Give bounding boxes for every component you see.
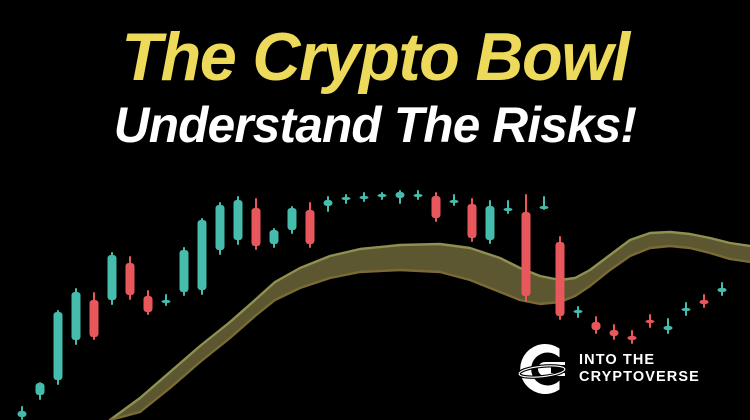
candle: [198, 218, 207, 295]
candle: [522, 194, 531, 302]
candle-body: [718, 288, 727, 292]
candle: [288, 206, 297, 234]
candle-body: [180, 250, 189, 292]
candle: [324, 196, 333, 212]
brand-logo-text: INTO THE CRYPTOVERSE: [579, 352, 700, 386]
brand-logo-line2: CRYPTOVERSE: [579, 369, 700, 386]
candle: [574, 306, 583, 318]
candle-body: [610, 330, 619, 336]
candle: [306, 202, 315, 248]
candle-body: [592, 322, 601, 330]
candle-body: [108, 255, 117, 300]
candle-body: [198, 220, 207, 290]
candle: [718, 282, 727, 296]
candle: [252, 198, 261, 250]
candle: [36, 382, 45, 400]
candle-body: [664, 326, 673, 330]
candle: [18, 406, 27, 420]
candle-body: [378, 194, 387, 197]
candle-body: [144, 296, 153, 312]
candle: [610, 324, 619, 340]
candle-body: [270, 230, 279, 244]
candle: [342, 194, 351, 204]
cryptoverse-planet-icon: [515, 342, 569, 396]
candle: [664, 318, 673, 334]
candle-body: [288, 208, 297, 230]
candle-body: [682, 308, 691, 311]
candle-body: [72, 292, 81, 340]
candle-body: [54, 312, 63, 380]
planet-ring-icon: [515, 342, 569, 396]
candle: [90, 292, 99, 340]
candle: [556, 236, 565, 320]
candle-body: [126, 263, 135, 295]
candle: [682, 302, 691, 316]
candle-body: [628, 336, 637, 340]
candle-body: [540, 206, 549, 209]
candle: [450, 194, 459, 206]
candle-body: [574, 310, 583, 313]
candle: [216, 202, 225, 255]
candle: [646, 314, 655, 328]
candle: [486, 200, 495, 244]
candle: [504, 200, 513, 214]
candle-body: [36, 383, 45, 395]
candle-body: [324, 200, 333, 206]
candle: [700, 294, 709, 308]
candle-body: [342, 197, 351, 200]
candle: [108, 252, 117, 305]
candle: [54, 310, 63, 385]
candle-body: [18, 411, 27, 417]
candle-body: [360, 196, 369, 199]
candle-body: [432, 196, 441, 218]
candle: [432, 192, 441, 222]
thumbnail-canvas: The Crypto Bowl Understand The Risks! IN…: [0, 0, 750, 420]
candle-body: [450, 200, 459, 203]
candle-body: [252, 208, 261, 246]
candle: [126, 256, 135, 300]
candle: [396, 190, 405, 204]
candle-body: [162, 300, 171, 303]
candle: [378, 192, 387, 200]
candle: [270, 228, 279, 248]
candle-body: [522, 212, 531, 296]
candle: [144, 290, 153, 315]
candle-body: [486, 206, 495, 240]
candle: [180, 247, 189, 296]
candle-body: [504, 208, 513, 211]
candle-body: [396, 192, 405, 198]
candle: [414, 190, 423, 200]
candle-wick: [507, 200, 509, 214]
brand-logo-line1: INTO THE: [579, 352, 700, 369]
candle-body: [216, 205, 225, 250]
candle: [72, 288, 81, 345]
candle-body: [414, 194, 423, 197]
candle: [540, 196, 549, 210]
candle: [234, 196, 243, 245]
candle-body: [556, 242, 565, 316]
candle: [468, 198, 477, 242]
candle-body: [306, 210, 315, 244]
candle-body: [90, 300, 99, 337]
candle-body: [700, 300, 709, 304]
candle-body: [468, 204, 477, 238]
candle: [162, 294, 171, 306]
brand-logo: INTO THE CRYPTOVERSE: [515, 342, 700, 396]
candle: [360, 192, 369, 202]
candle-body: [646, 320, 655, 323]
candle: [592, 316, 601, 334]
candle-body: [234, 200, 243, 240]
